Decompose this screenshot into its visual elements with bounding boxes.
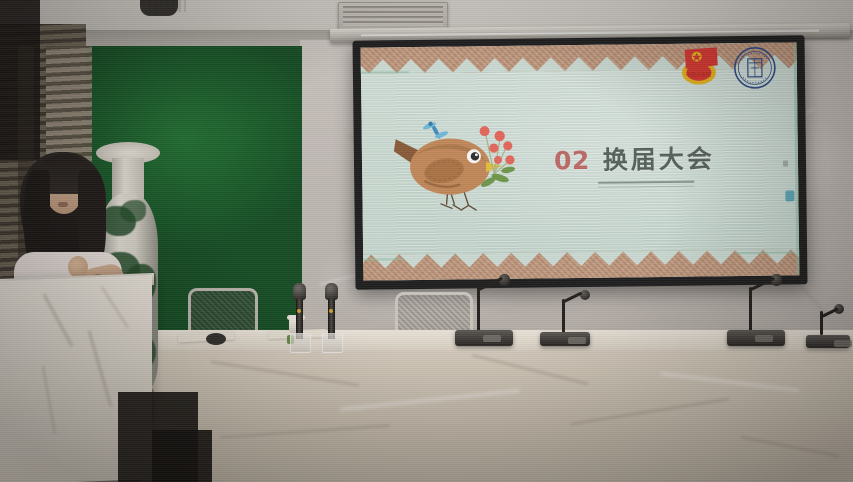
gooseneck-microphone	[727, 272, 787, 346]
screen-surface: 02 换届大会 中国共青团	[361, 42, 800, 280]
gooseneck-microphone	[540, 286, 598, 346]
conference-room-scene: 02 换届大会 中国共青团	[0, 0, 853, 482]
slide-title: 换届大会	[603, 139, 715, 176]
slide-title-row: 02 换届大会	[554, 139, 715, 177]
vent-grill	[343, 6, 443, 26]
bird-with-berries-illustration	[389, 104, 530, 226]
projection-screen: 02 换届大会 中国共青团	[352, 35, 807, 290]
mouth	[58, 202, 68, 207]
handheld-microphone	[293, 283, 306, 345]
ceiling-air-vent	[338, 2, 448, 30]
floor-shadow-deep	[152, 430, 212, 482]
handheld-microphone	[325, 283, 338, 345]
communist-youth-league-flag-badge-icon: 中国共青团	[677, 45, 724, 88]
ceiling-projector-mount	[140, 0, 178, 16]
conference-table-front	[140, 350, 853, 482]
desk-object	[206, 333, 226, 345]
screen-edge-mark	[783, 160, 788, 166]
university-seal-icon	[733, 46, 778, 91]
screen-status-marker	[785, 190, 794, 201]
dragonfly-icon	[422, 121, 449, 140]
slide-section-number: 02	[554, 146, 590, 175]
gooseneck-microphone	[806, 300, 853, 348]
gooseneck-microphone	[455, 272, 515, 346]
svg-text:中国共青团: 中国共青团	[686, 71, 711, 78]
